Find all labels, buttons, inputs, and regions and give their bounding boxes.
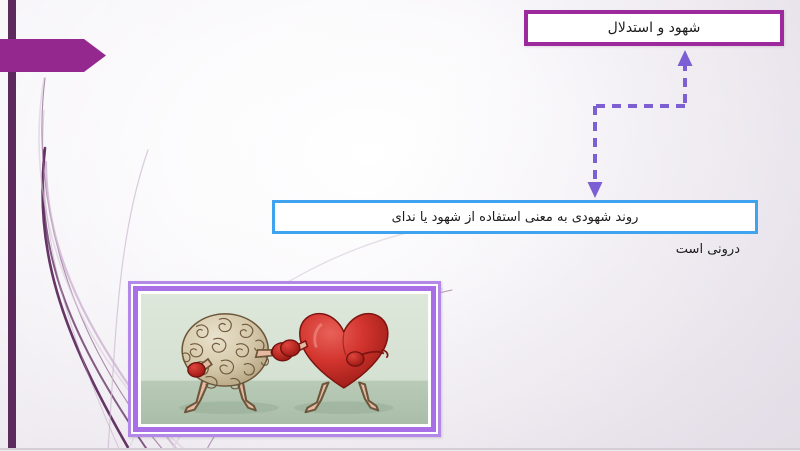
title-text: شهود و استدلال bbox=[608, 21, 701, 35]
body-text-line1: روند شهودی به معنی استفاده از شهود یا ند… bbox=[392, 211, 639, 224]
body-textbox[interactable]: روند شهودی به معنی استفاده از شهود یا ند… bbox=[272, 200, 758, 234]
body-text-line2: درونی است bbox=[430, 242, 740, 259]
picture-inner-border bbox=[133, 286, 436, 432]
slide-canvas: شهود و استدلال روند شهودی به معنی استفاد… bbox=[0, 0, 800, 451]
title-textbox[interactable]: شهود و استدلال bbox=[524, 10, 784, 46]
arrow-banner-shape bbox=[0, 39, 106, 72]
brain-vs-heart-image bbox=[141, 294, 428, 424]
picture-frame[interactable] bbox=[128, 281, 441, 437]
